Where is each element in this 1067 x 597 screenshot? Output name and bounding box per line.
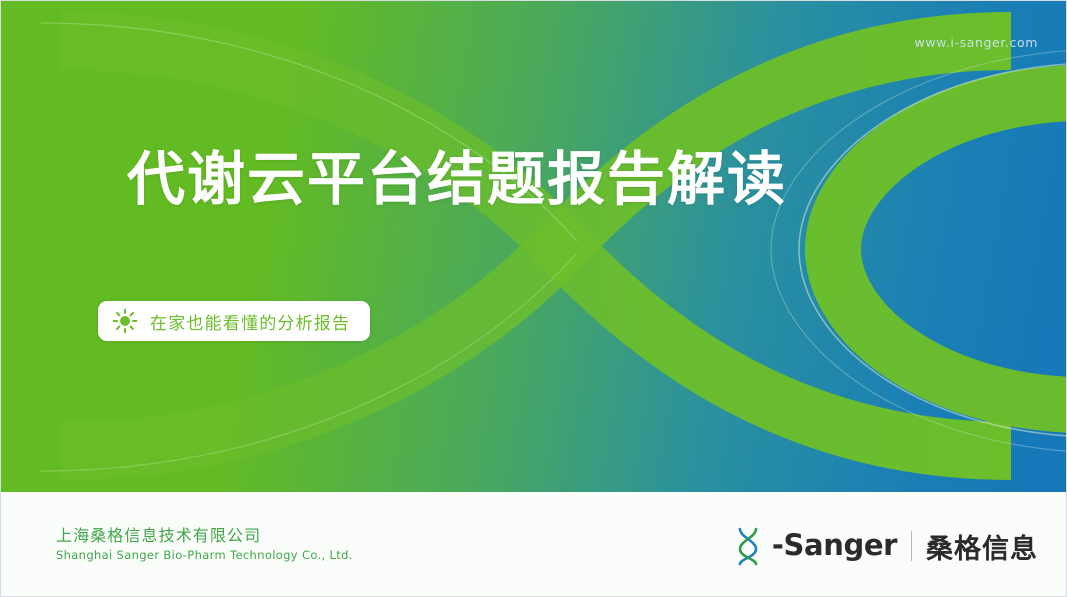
badge-label: 在家也能看懂的分析报告 bbox=[150, 309, 350, 334]
hero-ribbon-graphic bbox=[1, 1, 1067, 492]
dna-helix-icon bbox=[734, 526, 762, 566]
hero-banner: www.i-sanger.com 代谢云平台结题报告解读 在家也能看懂的分析报告 bbox=[1, 1, 1067, 492]
logo-wordmark-cn: 桑格信息 bbox=[926, 527, 1038, 566]
presentation-slide: www.i-sanger.com 代谢云平台结题报告解读 在家也能看懂的分析报告 bbox=[0, 0, 1067, 597]
page-title: 代谢云平台结题报告解读 bbox=[127, 147, 787, 212]
logo-divider bbox=[911, 531, 912, 561]
company-name-cn: 上海桑格信息技术有限公司 bbox=[56, 522, 261, 546]
company-name-en: Shanghai Sanger Bio-Pharm Technology Co.… bbox=[56, 548, 353, 562]
company-logo: -Sanger 桑格信息 bbox=[734, 523, 1038, 569]
logo-wordmark: -Sanger bbox=[772, 528, 897, 562]
sun-icon bbox=[112, 308, 138, 334]
website-url[interactable]: www.i-sanger.com bbox=[915, 35, 1038, 50]
subtitle-badge: 在家也能看懂的分析报告 bbox=[98, 301, 370, 341]
